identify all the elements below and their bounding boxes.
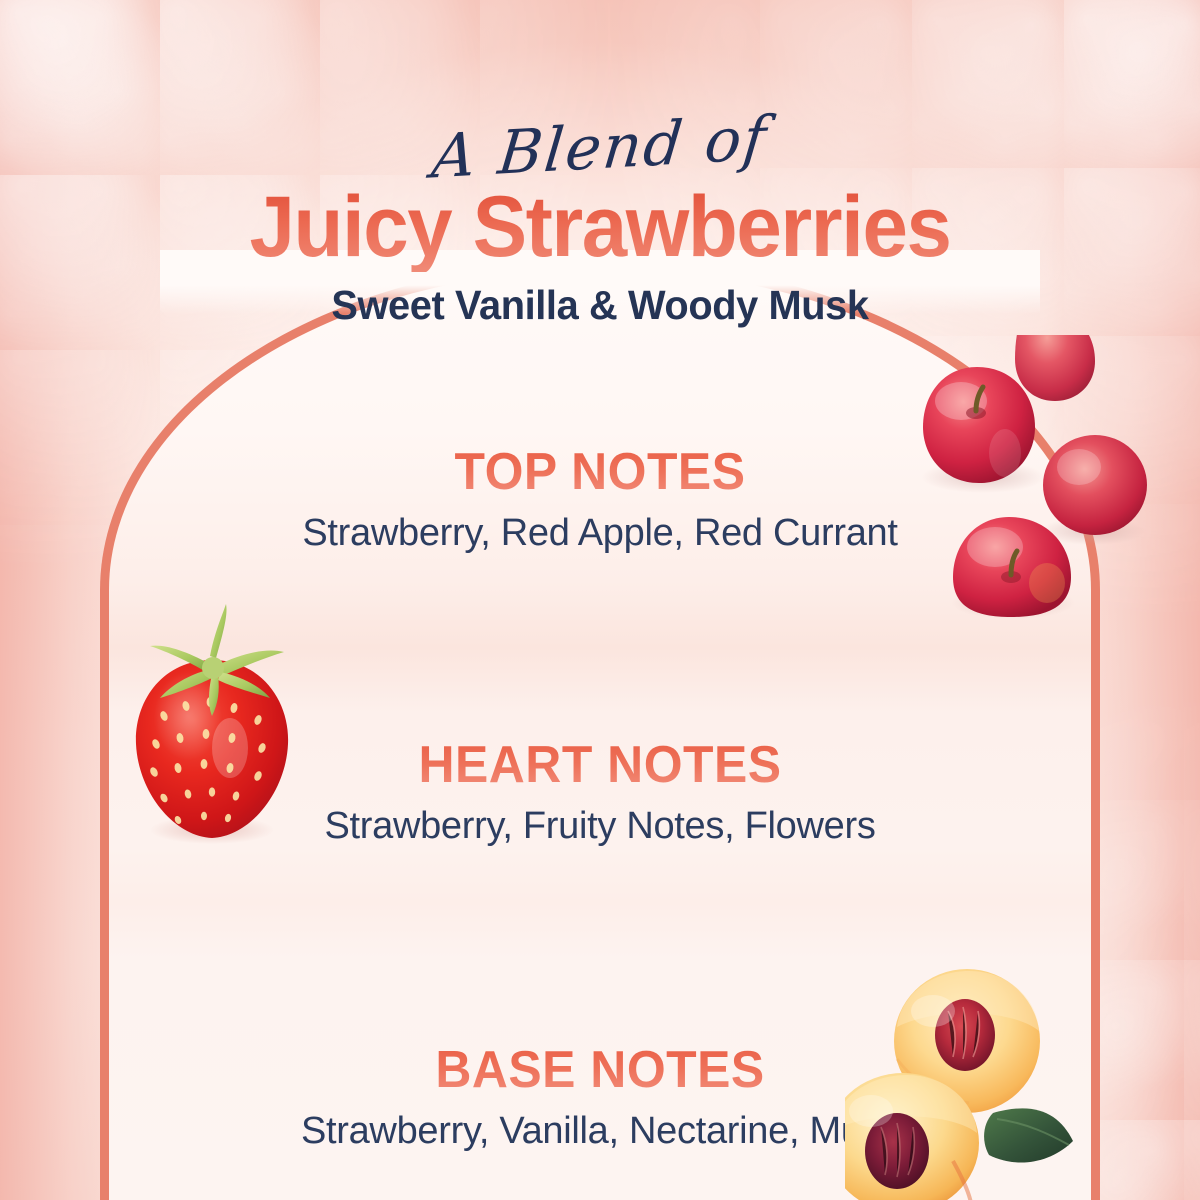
note-description-heart: Strawberry, Fruity Notes, Flowers	[110, 802, 1090, 851]
fragrance-notes-list: TOP NOTES Strawberry, Red Apple, Red Cur…	[110, 400, 1090, 1156]
note-title-heart: HEART NOTES	[130, 735, 1071, 795]
note-section-heart: HEART NOTES Strawberry, Fruity Notes, Fl…	[110, 735, 1090, 851]
note-title-base: BASE NOTES	[130, 1040, 1071, 1100]
note-section-top: TOP NOTES Strawberry, Red Apple, Red Cur…	[110, 442, 1090, 558]
page-subtitle: Sweet Vanilla & Woody Musk	[18, 282, 1182, 329]
fragrance-notes-poster: A Blend of Juicy Strawberries Sweet Vani…	[0, 0, 1200, 1200]
page-title: Juicy Strawberries	[30, 184, 1170, 272]
headline-block: A Blend of Juicy Strawberries Sweet Vani…	[0, 118, 1200, 329]
note-description-top: Strawberry, Red Apple, Red Currant	[110, 509, 1090, 558]
kicker-script-text: A Blend of	[429, 108, 770, 187]
note-title-top: TOP NOTES	[130, 442, 1071, 502]
note-section-base: BASE NOTES Strawberry, Vanilla, Nectarin…	[110, 1040, 1090, 1156]
note-description-base: Strawberry, Vanilla, Nectarine, Musk	[110, 1107, 1090, 1156]
